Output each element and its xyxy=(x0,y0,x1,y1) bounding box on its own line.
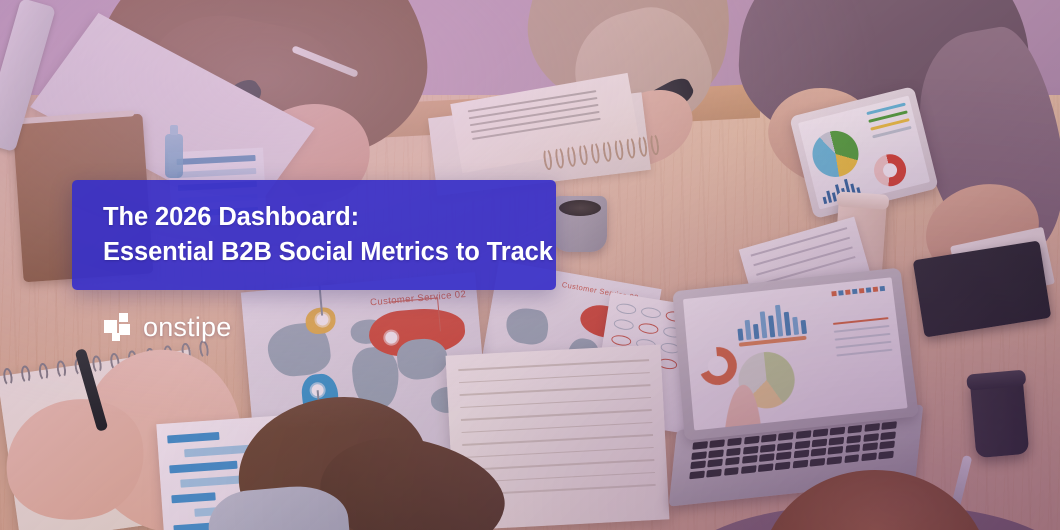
brand-name: onstipe xyxy=(143,314,231,341)
title-card: The 2026 Dashboard: Essential B2B Social… xyxy=(72,180,556,290)
four-squares-icon xyxy=(104,313,132,341)
promo-banner: Customer Service 02 Customer Service 02 xyxy=(0,0,1060,530)
title-line-2: Essential B2B Social Metrics to Track xyxy=(103,235,556,270)
brand-logo[interactable]: onstipe xyxy=(104,313,231,341)
title-line-1: The 2026 Dashboard: xyxy=(103,200,556,235)
